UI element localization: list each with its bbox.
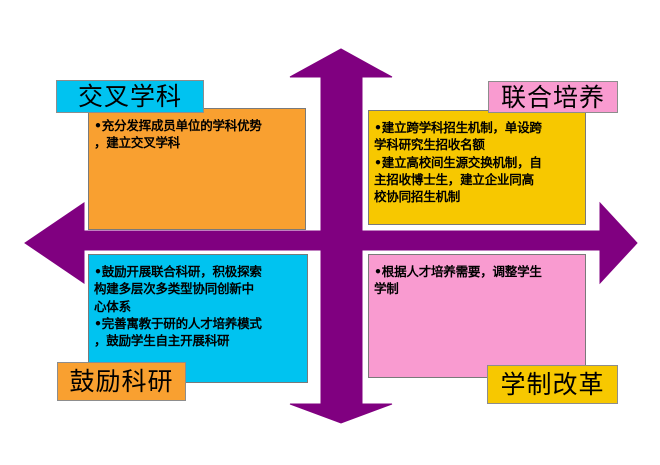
bullet-line: 心体系 — [94, 298, 301, 315]
bullet-line: 校协同招生机制 — [374, 188, 579, 205]
bullet-line: •建立跨学科招生机制，单设跨 — [374, 119, 579, 136]
quadrant-label-top-left: 交叉学科 — [56, 80, 204, 113]
content-text-top-left: •充分发挥成员单位的学科优势 ，建立交叉学科 — [89, 109, 305, 156]
content-text-top-right: •建立跨学科招生机制，单设跨 学科研究生招收名额 •建立高校间生源交换机制，自 … — [369, 111, 585, 209]
bullet-line: •建立高校间生源交换机制，自 — [374, 154, 579, 171]
quadrant-label-text: 联合培养 — [501, 85, 605, 110]
bullet-line: 学科研究生招收名额 — [374, 136, 579, 153]
bullet-line: •完善寓教于研的人才培养模式 — [94, 315, 301, 332]
content-text-bottom-left: •鼓励开展联合科研，积极探索 构建多层次多类型协同创新中 心体系 •完善寓教于研… — [89, 255, 307, 353]
slide-canvas: •充分发挥成员单位的学科优势 ，建立交叉学科 •建立跨学科招生机制，单设跨 学科… — [0, 0, 660, 465]
bullet-line: 主招收博士生，建立企业同高 — [374, 171, 579, 188]
quadrant-label-top-right: 联合培养 — [488, 81, 618, 113]
bullet-line: 学制 — [374, 280, 579, 297]
quadrant-label-text: 交叉学科 — [78, 84, 182, 109]
bullet-line: 构建多层次多类型协同创新中 — [94, 280, 301, 297]
quadrant-label-text: 鼓励科研 — [69, 369, 173, 394]
content-text-bottom-right: •根据人才培养需要，调整学生 学制 — [369, 255, 585, 302]
quadrant-label-bottom-right: 学制改革 — [487, 365, 618, 404]
content-box-top-left: •充分发挥成员单位的学科优势 ，建立交叉学科 — [88, 108, 306, 230]
quadrant-label-text: 学制改革 — [500, 372, 604, 397]
bullet-line: •鼓励开展联合科研，积极探索 — [94, 263, 301, 280]
bullet-line: ，鼓励学生自主开展科研 — [94, 332, 301, 349]
quadrant-label-bottom-left: 鼓励科研 — [57, 362, 186, 401]
content-box-top-right: •建立跨学科招生机制，单设跨 学科研究生招收名额 •建立高校间生源交换机制，自 … — [368, 110, 586, 225]
content-box-bottom-right: •根据人才培养需要，调整学生 学制 — [368, 254, 586, 378]
bullet-line: •充分发挥成员单位的学科优势 — [94, 117, 299, 134]
bullet-line: •根据人才培养需要，调整学生 — [374, 263, 579, 280]
bullet-line: ，建立交叉学科 — [94, 134, 299, 151]
